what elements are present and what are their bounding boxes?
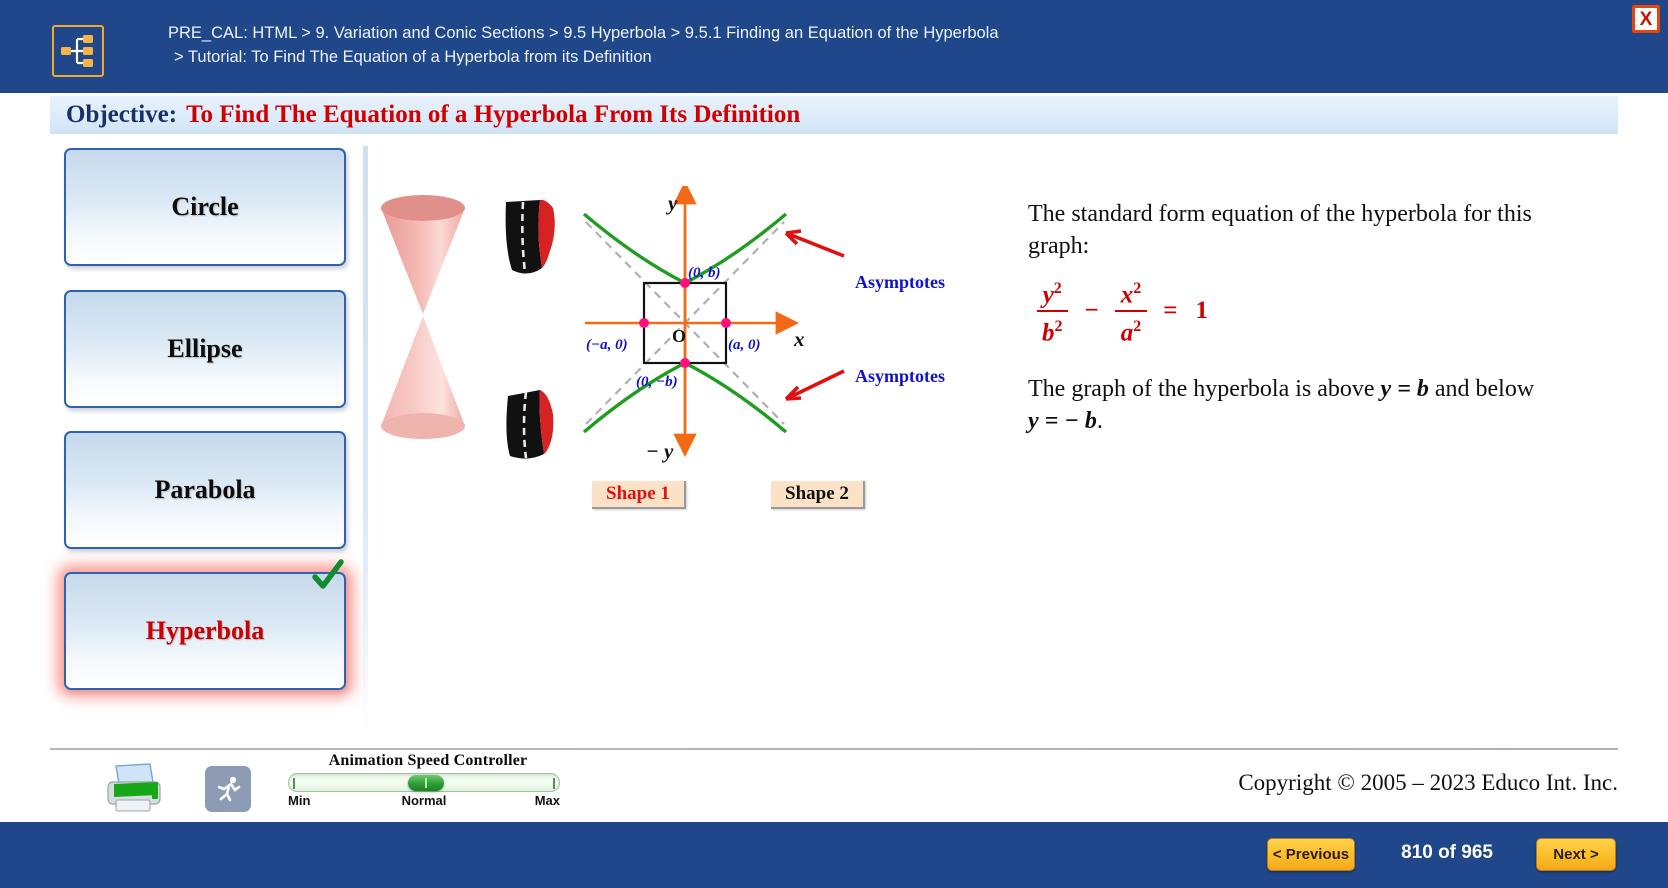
- label-right-point: (a, 0): [728, 337, 761, 353]
- speed-slider-thumb[interactable]: [408, 775, 444, 791]
- animation-play-button[interactable]: [205, 766, 251, 812]
- equation-equals: =: [1163, 297, 1177, 325]
- footer-navigation: < Previous 810 of 965 Next >: [0, 822, 1668, 888]
- objective-label: Objective:: [66, 101, 177, 129]
- application-window: PRE_CAL: HTML > 9. Variation and Conic S…: [0, 0, 1668, 888]
- explanation-p2-math-1: y = b: [1381, 376, 1429, 402]
- slider-label-max: Max: [535, 793, 560, 808]
- printer-icon[interactable]: [100, 762, 168, 814]
- copyright-text: Copyright © 2005 – 2023 Educo Int. Inc.: [1238, 770, 1618, 796]
- sidebar-item-label: Circle: [171, 192, 238, 222]
- running-man-icon: [213, 774, 243, 804]
- explanation-p2-period: .: [1097, 408, 1103, 434]
- slider-label-normal: Normal: [402, 793, 447, 808]
- fraction-denominator: a2: [1115, 312, 1148, 346]
- asymptote-arrows: [786, 231, 844, 399]
- fraction-denominator: b2: [1036, 312, 1069, 346]
- next-button-label: Next >: [1553, 846, 1598, 863]
- hierarchy-tree-icon: [52, 25, 104, 77]
- fraction-x2-a2: x2 a2: [1115, 276, 1148, 347]
- breadcrumb-line-1: PRE_CAL: HTML > 9. Variation and Conic S…: [168, 24, 999, 42]
- explanation-p2-text-1: The graph of the hyperbola is above: [1028, 376, 1375, 402]
- sidebar-item-label: Ellipse: [167, 334, 242, 364]
- label-bottom-vertex: (0, −b): [636, 374, 678, 390]
- cross-section-shape-1: [506, 200, 555, 274]
- speed-controller-title: Animation Speed Controller: [288, 752, 568, 770]
- slider-label-min: Min: [288, 793, 310, 808]
- annotation-asymptotes-top: Asymptotes: [855, 272, 945, 292]
- next-button[interactable]: Next >: [1536, 838, 1616, 871]
- bottom-toolbar: Animation Speed Controller Min Normal Ma…: [0, 752, 1668, 822]
- slider-tick-max: [553, 778, 555, 789]
- hyperbola-equation: y2 b2 − x2 a2 = 1: [1032, 276, 1548, 347]
- annotation-asymptotes-bottom: Asymptotes: [855, 366, 945, 386]
- slider-labels: Min Normal Max: [288, 793, 560, 809]
- check-icon: [310, 558, 346, 594]
- explanation-panel: The standard form equation of the hyperb…: [1028, 198, 1548, 451]
- label-top-vertex: (0, b): [688, 265, 721, 281]
- axis-label-y: y: [665, 191, 678, 215]
- cross-section-shape-2: [506, 390, 553, 459]
- breadcrumb-line-2: > Tutorial: To Find The Equation of a Hy…: [168, 45, 1568, 69]
- shape-1-label: Shape 1: [606, 483, 670, 505]
- sidebar-item-hyperbola[interactable]: Hyperbola: [64, 572, 346, 690]
- sidebar-item-label: Hyperbola: [146, 616, 264, 646]
- speed-slider[interactable]: [288, 773, 560, 792]
- equation-rhs: 1: [1196, 297, 1209, 325]
- axis-label-x: x: [793, 327, 805, 351]
- explanation-paragraph-1: The standard form equation of the hyperb…: [1028, 198, 1548, 262]
- shape-2-button[interactable]: Shape 2: [771, 481, 865, 509]
- previous-button-label: < Previous: [1273, 846, 1349, 863]
- objective-bar: Objective: To Find The Equation of a Hyp…: [50, 96, 1618, 134]
- axis-label-y-negative: − y: [646, 439, 674, 463]
- objective-text: To Find The Equation of a Hyperbola From…: [186, 101, 800, 129]
- fraction-numerator: y2: [1037, 276, 1068, 312]
- header-bar: PRE_CAL: HTML > 9. Variation and Conic S…: [0, 0, 1668, 93]
- shape-2-label: Shape 2: [785, 483, 849, 505]
- content-area: y − y x O (0, b) (0, −b) (−a, 0) (a, 0) …: [368, 136, 1668, 736]
- sidebar-item-circle[interactable]: Circle: [64, 148, 346, 266]
- sidebar-item-parabola[interactable]: Parabola: [64, 431, 346, 549]
- fraction-numerator: x2: [1115, 276, 1148, 312]
- sidebar-item-ellipse[interactable]: Ellipse: [64, 290, 346, 408]
- explanation-p2-math-2: y = − b: [1028, 408, 1097, 434]
- breadcrumb: PRE_CAL: HTML > 9. Variation and Conic S…: [168, 21, 1568, 69]
- body-area: Circle Ellipse Parabola Hyperbola: [0, 136, 1668, 746]
- double-cone-illustration: [381, 195, 465, 439]
- fraction-y2-b2: y2 b2: [1036, 276, 1069, 347]
- label-left-point: (−a, 0): [586, 337, 628, 353]
- page-counter: 810 of 965: [1401, 842, 1493, 864]
- hyperbola-figure: y − y x O (0, b) (0, −b) (−a, 0) (a, 0) …: [378, 186, 978, 486]
- animation-speed-controller: Animation Speed Controller Min Normal Ma…: [288, 752, 568, 809]
- close-icon[interactable]: X: [1632, 5, 1660, 33]
- explanation-paragraph-2: The graph of the hyperbola is above y = …: [1028, 373, 1548, 437]
- shape-1-button[interactable]: Shape 1: [592, 481, 686, 509]
- toolbar-separator: [50, 748, 1618, 750]
- previous-button[interactable]: < Previous: [1267, 838, 1355, 871]
- origin-label: O: [672, 326, 686, 346]
- slider-tick-min: [293, 778, 295, 789]
- equation-operator: −: [1085, 297, 1099, 325]
- sidebar: Circle Ellipse Parabola Hyperbola: [0, 136, 360, 736]
- hyperbola-diagram-svg: y − y x O (0, b) (0, −b) (−a, 0) (a, 0) …: [378, 186, 978, 506]
- sidebar-item-label: Parabola: [154, 475, 255, 505]
- close-icon-glyph: X: [1640, 10, 1653, 29]
- explanation-p2-text-2: and below: [1435, 376, 1534, 402]
